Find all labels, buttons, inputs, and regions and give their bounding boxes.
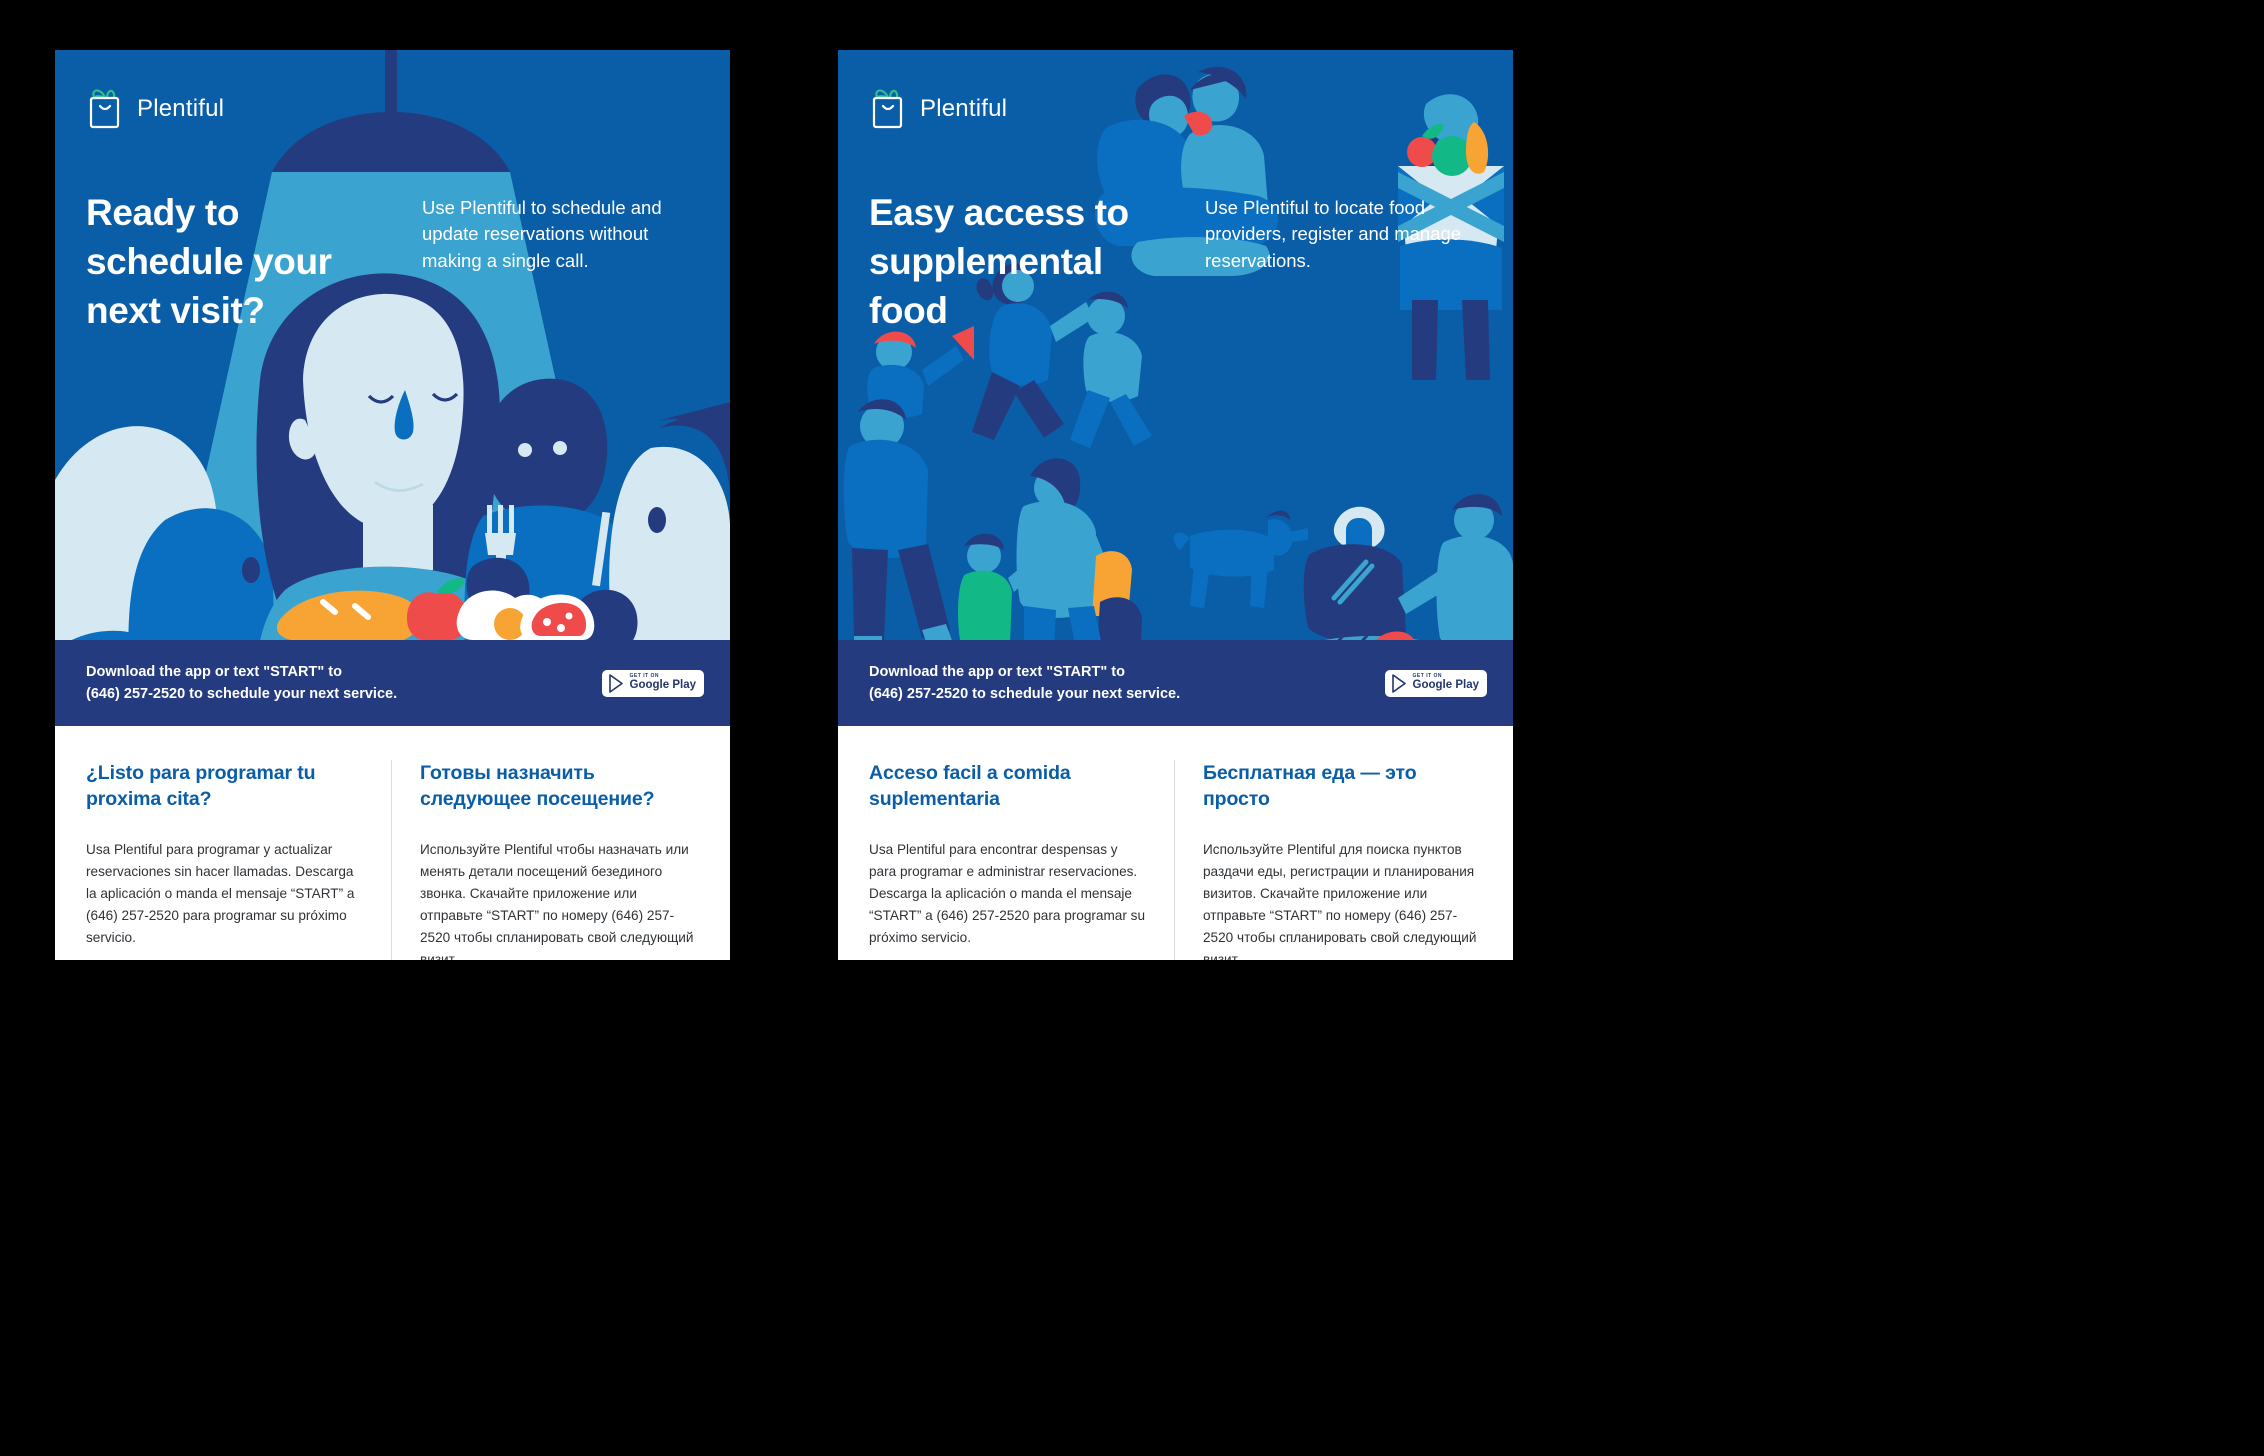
poster-2-footer-column-es: Acceso facil a comida suplementaria Usa … bbox=[869, 760, 1174, 960]
poster-1-hero: Plentiful Ready to schedule your next vi… bbox=[55, 50, 730, 726]
poster-stage: Plentiful Ready to schedule your next vi… bbox=[0, 0, 2264, 1456]
poster-2-hero: Plentiful Easy access to supplemental fo… bbox=[838, 50, 1513, 726]
badge-store-name: Google Play bbox=[630, 680, 696, 692]
poster-1-headline: Ready to schedule your next visit? bbox=[86, 188, 386, 336]
poster-1-footer-column-es: ¿Listo para programar tu proxima cita? U… bbox=[86, 760, 391, 960]
brand-name: Plentiful bbox=[137, 95, 224, 123]
google-play-badge[interactable]: GET IT ON Google Play bbox=[602, 670, 704, 697]
footer-body-es: Usa Plentiful para encontrar despensas y… bbox=[869, 839, 1148, 949]
google-play-icon bbox=[608, 674, 625, 693]
poster-card-easy-access: Plentiful Easy access to supplemental fo… bbox=[838, 50, 1513, 960]
poster-card-ready-to-schedule: Plentiful Ready to schedule your next vi… bbox=[55, 50, 730, 960]
footer-body-ru: Используйте Plentiful для поиска пунктов… bbox=[1203, 839, 1482, 960]
google-play-badge[interactable]: GET IT ON Google Play bbox=[1385, 670, 1487, 697]
poster-2-kicker: Use Plentiful to locate food providers, … bbox=[1205, 195, 1475, 274]
footer-title-ru: Готовы назначить следующее посещение? bbox=[420, 760, 699, 813]
poster-2-headline: Easy access to supplemental food bbox=[869, 188, 1169, 336]
poster-2-footer-column-ru: Бесплатная еда — это просто Используйте … bbox=[1174, 760, 1482, 960]
poster-2-cta-bar: Download the app or text "START" to (646… bbox=[838, 640, 1513, 726]
cta-line-2: (646) 257-2520 to schedule your next ser… bbox=[86, 683, 397, 705]
footer-title-ru: Бесплатная еда — это просто bbox=[1203, 760, 1482, 813]
cta-line-1: Download the app or text "START" to bbox=[869, 661, 1180, 683]
footer-body-es: Usa Plentiful para programar y actualiza… bbox=[86, 839, 365, 949]
google-play-icon bbox=[1391, 674, 1408, 693]
footer-body-ru: Используйте Plentiful чтобы назначать ил… bbox=[420, 839, 699, 960]
poster-1-footer: ¿Listo para programar tu proxima cita? U… bbox=[55, 726, 730, 960]
poster-1-footer-column-ru: Готовы назначить следующее посещение? Ис… bbox=[391, 760, 699, 960]
cta-line-1: Download the app or text "START" to bbox=[86, 661, 397, 683]
footer-title-es: ¿Listo para programar tu proxima cita? bbox=[86, 760, 365, 813]
footer-title-es: Acceso facil a comida suplementaria bbox=[869, 760, 1148, 813]
brand-logo: Plentiful bbox=[86, 87, 224, 131]
poster-1-cta-bar: Download the app or text "START" to (646… bbox=[55, 640, 730, 726]
badge-store-name: Google Play bbox=[1413, 680, 1479, 692]
grocery-bag-icon bbox=[869, 87, 907, 131]
cta-line-2: (646) 257-2520 to schedule your next ser… bbox=[869, 683, 1180, 705]
brand-logo: Plentiful bbox=[869, 87, 1007, 131]
brand-name: Plentiful bbox=[920, 95, 1007, 123]
poster-1-kicker: Use Plentiful to schedule and update res… bbox=[422, 195, 692, 274]
poster-2-cta-text: Download the app or text "START" to (646… bbox=[869, 661, 1180, 706]
poster-2-footer: Acceso facil a comida suplementaria Usa … bbox=[838, 726, 1513, 960]
grocery-bag-icon bbox=[86, 87, 124, 131]
poster-1-cta-text: Download the app or text "START" to (646… bbox=[86, 661, 397, 706]
